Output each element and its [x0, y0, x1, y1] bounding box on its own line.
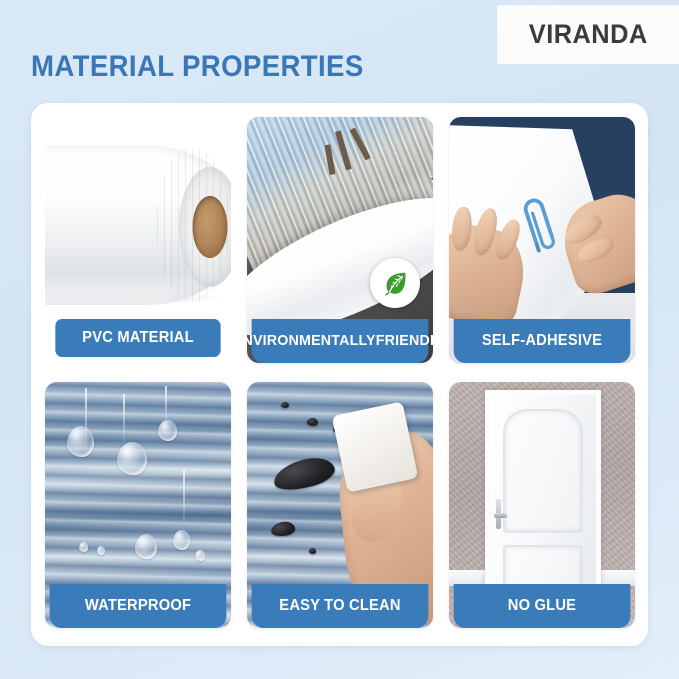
door-panel-bottom	[503, 545, 583, 589]
stain-mark	[309, 548, 316, 554]
card-label-pvc-material: PVC MATERIAL	[55, 319, 220, 357]
label-line-2: FRIENDLY	[376, 333, 433, 348]
door-panel-top	[503, 409, 583, 533]
feature-card-environmentally-friendly[interactable]: ENVIRONMENTALLY FRIENDLY	[247, 117, 433, 363]
feature-card-easy-to-clean[interactable]: EASY TO CLEAN	[247, 382, 433, 628]
stain-mark	[281, 402, 289, 408]
door	[490, 395, 596, 599]
card-label-environmentally-friendly: ENVIRONMENTALLY FRIENDLY	[252, 319, 429, 363]
brand-plate: VIRANDA	[498, 6, 679, 63]
water-droplet	[135, 534, 157, 559]
feature-card-pvc-material[interactable]: PVC MATERIAL	[45, 117, 231, 363]
water-droplet	[117, 442, 147, 475]
water-droplet	[195, 550, 205, 561]
card-label-no-glue: NO GLUE	[454, 584, 631, 628]
roll-cardboard-core	[193, 196, 228, 258]
card-label-easy-to-clean: EASY TO CLEAN	[252, 584, 429, 628]
feature-card-no-glue[interactable]: NO GLUE	[449, 382, 635, 628]
feature-card-waterproof[interactable]: WATERPROOF	[45, 382, 231, 628]
leaf-icon	[370, 258, 420, 308]
water-droplet	[97, 546, 105, 555]
water-droplet	[158, 420, 177, 441]
feature-card-self-adhesive[interactable]: SELF-ADHESIVE	[449, 117, 635, 363]
water-droplet	[173, 530, 190, 550]
page-title: MATERIAL PROPERTIES	[31, 50, 364, 84]
brand-name: VIRANDA	[529, 19, 648, 50]
water-droplet	[79, 542, 88, 552]
card-label-waterproof: WATERPROOF	[50, 584, 227, 628]
door-frame	[485, 390, 601, 604]
water-droplet	[67, 426, 94, 457]
paperclip-icon	[515, 191, 563, 256]
feature-card-grid: PVC MATERIAL	[45, 117, 635, 628]
stain-mark	[307, 418, 318, 426]
door-handle	[494, 513, 507, 518]
label-line-1: ENVIRONMENTALLY	[247, 333, 376, 348]
roll-end-face	[179, 167, 231, 287]
card-label-self-adhesive: SELF-ADHESIVE	[454, 319, 631, 363]
